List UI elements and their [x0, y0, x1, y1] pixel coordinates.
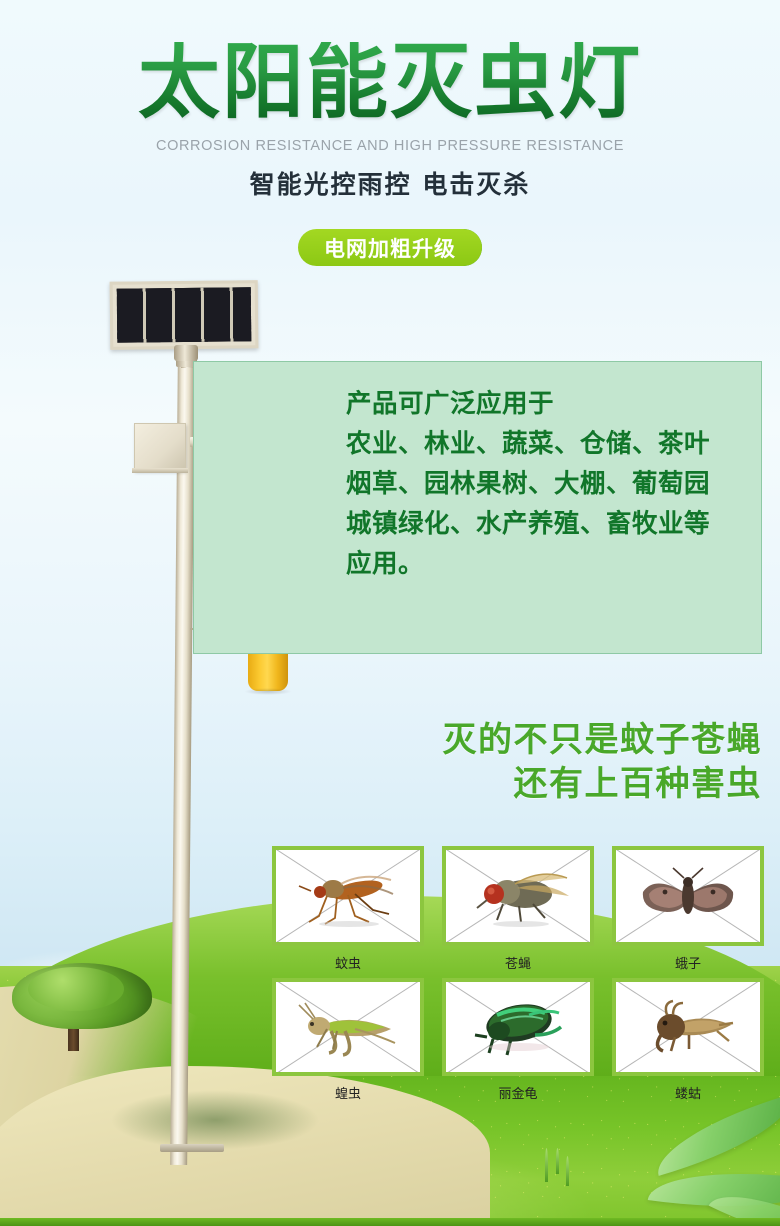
- subtitle-chinese: 智能光控雨控 电击灭杀: [0, 165, 780, 201]
- info-line: 产品可广泛应用于: [346, 384, 756, 424]
- feature-badge: 电网加粗升级 使用更长久: [298, 229, 482, 266]
- pest-thumbnail[interactable]: [442, 978, 594, 1076]
- mole-cricket-icon: [633, 995, 743, 1059]
- bottom-accent-bar: [0, 1218, 780, 1226]
- pest-card[interactable]: 蝗虫: [272, 978, 424, 1102]
- pest-thumbnail[interactable]: [272, 846, 424, 946]
- application-info-text: 产品可广泛应用于 农业、林业、蔬菜、仓储、茶叶 烟草、园林果树、大棚、葡萄园 城…: [346, 384, 756, 584]
- chafer-beetle-icon: [463, 995, 573, 1059]
- moth-icon: [633, 864, 743, 928]
- tree-crown-highlight: [28, 967, 124, 1011]
- feature-badge-group: 电网加粗升级 使用更长久: [0, 229, 780, 266]
- pest-thumbnail[interactable]: [442, 846, 594, 946]
- pest-thumbnail[interactable]: [272, 978, 424, 1076]
- pest-label: 蚊虫: [272, 953, 424, 972]
- pest-label: 蛾子: [612, 953, 764, 972]
- pest-thumbnail[interactable]: [612, 846, 764, 946]
- application-info-panel: 产品可广泛应用于 农业、林业、蔬菜、仓储、茶叶 烟草、园林果树、大棚、葡萄园 城…: [193, 361, 762, 654]
- pest-headline: 灭的不只是蚊子苍蝇 还有上百种害虫: [342, 718, 762, 806]
- pest-card[interactable]: 苍蝇: [442, 846, 594, 972]
- tree-icon: [12, 956, 152, 1051]
- pest-headline-line1: 灭的不只是蚊子苍蝇: [342, 718, 762, 762]
- info-line: 城镇绿化、水产养殖、畜牧业等: [346, 504, 756, 544]
- info-line: 应用。: [346, 544, 756, 584]
- pest-label: 蝗虫: [272, 1083, 424, 1102]
- pest-card[interactable]: 蝼蛄: [612, 978, 764, 1102]
- pest-label: 蝼蛄: [612, 1083, 764, 1102]
- pest-card[interactable]: 丽金龟: [442, 978, 594, 1102]
- grass-blade-small: [545, 1148, 548, 1182]
- pest-thumbnail[interactable]: [612, 978, 764, 1076]
- pest-card[interactable]: 蚊虫: [272, 846, 424, 972]
- pest-card[interactable]: 蛾子: [612, 846, 764, 972]
- info-line: 烟草、园林果树、大棚、葡萄园: [346, 464, 756, 504]
- pest-gallery: 蚊虫: [272, 846, 772, 1102]
- badge-primary-label: 电网加粗升级: [298, 229, 482, 266]
- page-header: 太阳能灭虫灯 CORROSION RESISTANCE AND HIGH PRE…: [0, 0, 780, 201]
- page-title: 太阳能灭虫灯: [0, 42, 780, 124]
- housefly-icon: [463, 864, 573, 928]
- grass-blade-small: [566, 1156, 569, 1186]
- subtitle-english: CORROSION RESISTANCE AND HIGH PRESSURE R…: [0, 138, 780, 154]
- info-line: 农业、林业、蔬菜、仓储、茶叶: [346, 424, 756, 464]
- pest-headline-line2: 还有上百种害虫: [342, 762, 762, 806]
- pest-label: 丽金龟: [442, 1083, 594, 1102]
- mosquito-icon: [293, 864, 403, 928]
- grass-blade-small: [556, 1148, 559, 1174]
- product-detail-page: 太阳能灭虫灯 CORROSION RESISTANCE AND HIGH PRE…: [0, 0, 780, 1226]
- locust-icon: [293, 995, 403, 1059]
- pest-label: 苍蝇: [442, 953, 594, 972]
